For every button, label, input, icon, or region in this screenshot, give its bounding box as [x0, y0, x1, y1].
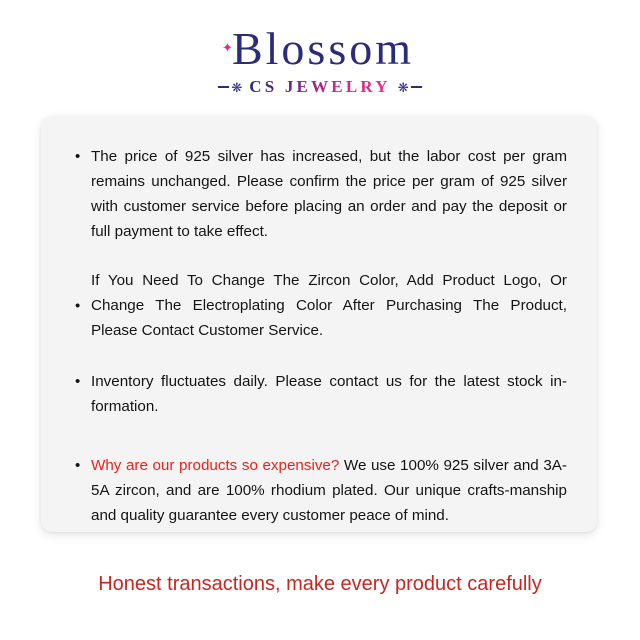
list-item: • If You Need To Change The Zircon Color…: [71, 268, 567, 343]
footer-slogan: Honest transactions, make every product …: [0, 570, 640, 598]
notice-text-price: The price of 925 silver has increased, b…: [91, 148, 567, 240]
brand-wordmark: ✦ Blossom: [226, 26, 414, 72]
ornament-dash-right: [411, 86, 422, 88]
ornament-right-icon: ❋: [398, 81, 422, 94]
brand-header: ✦ Blossom ❋ CS JEWELRY ❋: [0, 0, 640, 97]
notice-highlight-question: Why are our products so expensive?: [91, 457, 339, 474]
snowflake-left-icon: ❋: [231, 81, 242, 94]
sparkle-icon: ✦: [222, 42, 233, 53]
bullet-icon: •: [75, 453, 80, 478]
bullet-icon: •: [75, 298, 80, 313]
list-item: • Why are our products so expensive? We …: [71, 453, 567, 528]
brand-subtitle: CS JEWELRY: [249, 77, 390, 97]
list-item: • Inventory fluctuates daily. Please con…: [71, 369, 567, 419]
ornament-dash-left: [218, 86, 229, 88]
notice-text-inventory: Inventory fluctuates daily. Please conta…: [91, 373, 567, 415]
bullet-icon: •: [75, 369, 80, 394]
notice-page: ✦ Blossom ❋ CS JEWELRY ❋ • The price of …: [0, 0, 640, 640]
snowflake-right-icon: ❋: [398, 81, 409, 94]
brand-sublockup: ❋ CS JEWELRY ❋: [0, 77, 640, 97]
notice-card: • The price of 925 silver has increased,…: [41, 116, 597, 532]
brand-wordmark-text: Blossom: [232, 23, 414, 74]
notice-text-customization: If You Need To Change The Zircon Color, …: [91, 272, 567, 339]
list-item: • The price of 925 silver has increased,…: [71, 144, 567, 244]
bullet-icon: •: [75, 144, 80, 169]
notice-list: • The price of 925 silver has increased,…: [71, 144, 567, 528]
ornament-left-icon: ❋: [218, 81, 242, 94]
